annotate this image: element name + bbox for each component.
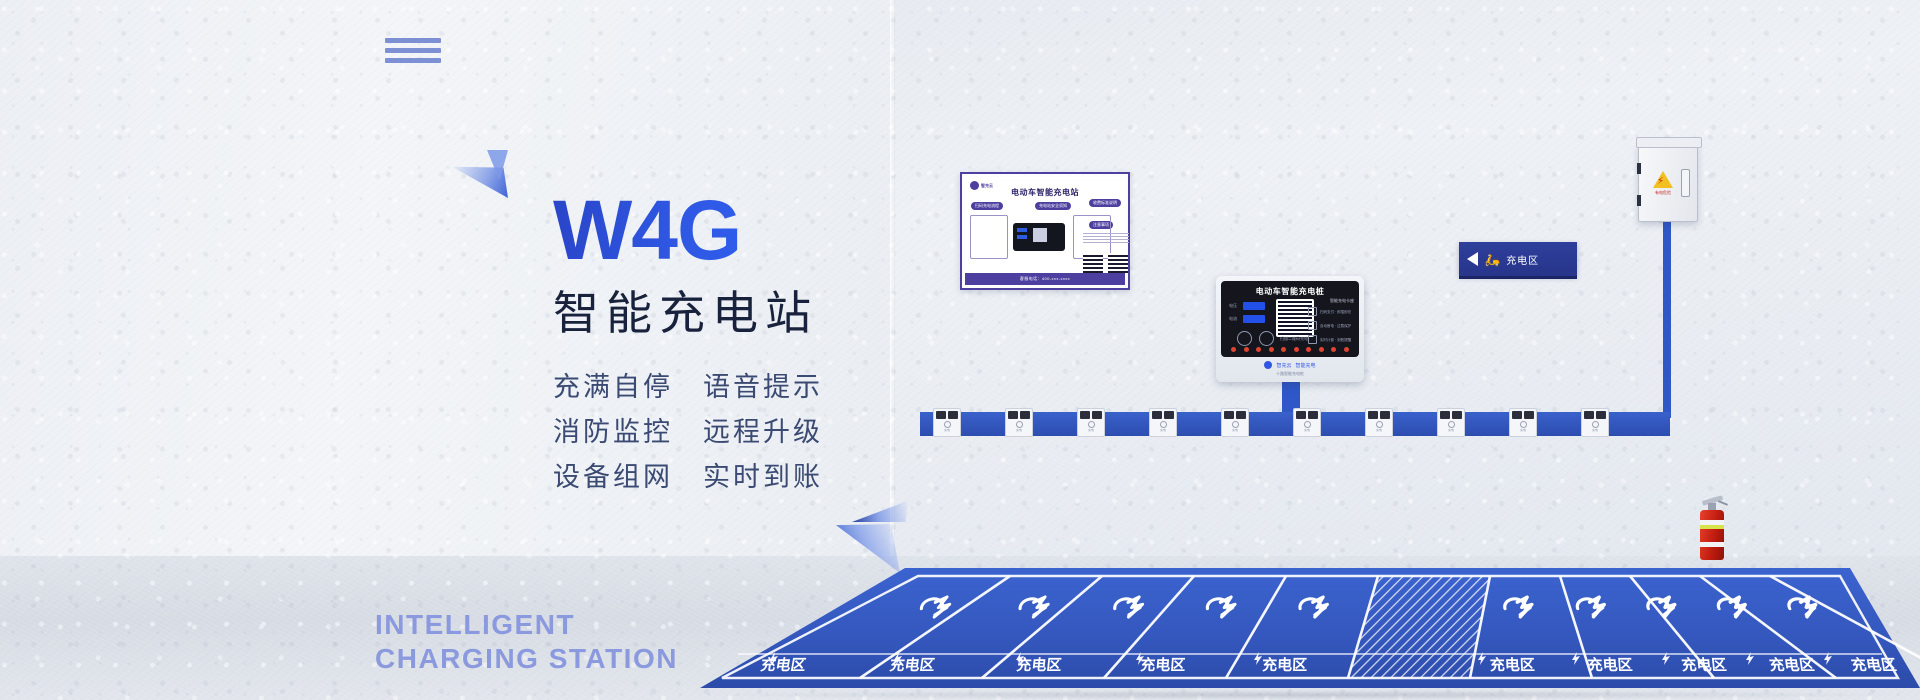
banner-root: W4G 智能充电站 充满自停 语音提示 消防监控 远程升级 设备组网 实时到账 … (0, 0, 1920, 700)
poster-title: 电动车智能充电站 (965, 187, 1125, 198)
socket-label: 充电 (1438, 428, 1464, 432)
port-indicator (1256, 347, 1261, 352)
socket-holes (1150, 409, 1176, 419)
feature-list: 充满自停 语音提示 消防监控 远程升级 设备组网 实时到账 (553, 365, 823, 494)
fire-extinguisher (1700, 498, 1724, 560)
socket-holes (1438, 409, 1464, 419)
charging-pile-info-row: 自动断电 · 过载保护 (1308, 321, 1354, 330)
poster-device-qr (1033, 228, 1047, 242)
extinguisher-band-yellow (1700, 525, 1724, 529)
wall-socket[interactable]: 充电 (1509, 408, 1537, 437)
socket-label: 充电 (1078, 428, 1104, 432)
port-indicator (1244, 347, 1249, 352)
charging-pile-knob-2[interactable] (1259, 331, 1274, 346)
port-indicator (1269, 347, 1274, 352)
extinguisher-band (1700, 520, 1724, 525)
port-indicator (1306, 347, 1311, 352)
charging-pile-info-row: 扫码支付 · 即插即充 (1308, 307, 1354, 316)
hamburger-line-3 (385, 58, 441, 63)
charging-pile-info-heading: 智能充电卡座 (1308, 298, 1354, 304)
socket-pin (1160, 421, 1167, 428)
cabinet-conduit (1663, 220, 1671, 418)
charging-pile-info-icon (1308, 335, 1317, 344)
wall-socket[interactable]: 充电 (1149, 408, 1177, 437)
charging-pile-knob-1[interactable] (1237, 331, 1252, 346)
feature-item: 语音提示 (703, 365, 823, 404)
cabinet-warning-text: 有电危险 (1647, 190, 1679, 196)
cabinet-handle[interactable] (1681, 169, 1690, 197)
hamburger-line-1 (385, 38, 441, 43)
bay-label: 充电区 (1140, 656, 1186, 674)
socket-pin (1592, 421, 1599, 428)
socket-label: 充电 (1222, 428, 1248, 432)
charging-pile-info-text: 扫码支付 · 即插即充 (1320, 310, 1351, 314)
tagline-line-2: CHARGING STATION (375, 642, 678, 676)
brand-logo-icon (1264, 361, 1272, 369)
socket-pin (1304, 421, 1311, 428)
poster-footer: 客服电话：400-xxx-xxxx (965, 273, 1125, 285)
charging-pile-caption: 十路智能充电桩 (1221, 371, 1359, 377)
parking-lot: 充电区 充电区 充电区 充电区 充电区 充电区 充电区 充电区 充电区 充电区 (690, 556, 1920, 700)
poster-text-lines (1083, 233, 1129, 245)
poster-flow-box-left (970, 215, 1008, 259)
socket-holes (1510, 409, 1536, 419)
socket-pin (1520, 421, 1527, 428)
socket-label: 充电 (1006, 428, 1032, 432)
charging-pile-brand: 智充云 智能充电 (1221, 361, 1359, 369)
socket-label: 充电 (1510, 428, 1536, 432)
charging-pile-info-text: 自动断电 · 过载保护 (1320, 324, 1351, 328)
socket-pin (1016, 421, 1023, 428)
poster-text-line (1083, 242, 1129, 243)
high-voltage-icon: ⚡ (1657, 177, 1664, 187)
charging-pile-display-label-1: 电压 (1229, 302, 1237, 310)
bay-label: 充电区 (1768, 656, 1815, 674)
hamburger-line-2 (385, 48, 441, 53)
wall-poster-inner: 智充云 电动车智能充电站 扫码充电流程 充电站安全须知 收费标准说明 注意事项 (965, 177, 1125, 285)
electrical-distribution-box: ⚡ 有电危险 (1638, 144, 1698, 222)
cabinet-hinge (1637, 195, 1641, 206)
cabinet-hinge (1637, 163, 1641, 174)
wall-socket[interactable]: 充电 (1293, 408, 1321, 437)
arrow-left-icon (1467, 252, 1478, 266)
wall-socket[interactable]: 充电 (1005, 408, 1033, 437)
bay-label: 充电区 (1681, 656, 1728, 674)
port-indicator (1294, 347, 1299, 352)
feature-item: 充满自停 (553, 365, 673, 404)
charging-pile-brand-text: 智充云 (1276, 362, 1291, 369)
poster-device-led-1 (1017, 228, 1027, 232)
charging-pile-led-display-2 (1243, 315, 1265, 323)
socket-label: 充电 (934, 428, 960, 432)
direction-sign: 🛵 充电区 (1459, 242, 1577, 276)
direction-sign-label: 充电区 (1506, 252, 1539, 267)
bay-label: 充电区 (1850, 656, 1898, 674)
charging-pile-title: 电动车智能充电桩 (1221, 286, 1359, 297)
charging-pile[interactable]: 电动车智能充电桩 电压 电流 扫描二维码充电 智能充电卡座 扫码支付 · 即插即… (1216, 276, 1364, 382)
poster-section-3: 收费标准说明 (1089, 199, 1121, 207)
wall-socket[interactable]: 充电 (1581, 408, 1609, 437)
bay-label: 充电区 (1016, 656, 1063, 674)
direction-sign-base (1459, 276, 1577, 279)
charging-pile-brand-sub: 智能充电 (1296, 362, 1316, 369)
socket-holes (934, 409, 960, 419)
wall-socket[interactable]: 充电 (1077, 408, 1105, 437)
poster-qr-wechat (1083, 253, 1103, 273)
bay-label: 充电区 (1489, 656, 1535, 674)
bay-label: 充电区 (759, 656, 807, 674)
lot-slab (700, 568, 1920, 688)
poster-section-2: 充电站安全须知 (1035, 202, 1071, 210)
port-indicator (1231, 347, 1236, 352)
feature-item: 消防监控 (553, 410, 673, 449)
charging-pile-info-icon (1308, 321, 1317, 330)
port-indicator (1319, 347, 1324, 352)
port-indicator (1331, 347, 1336, 352)
lot-ground-shadow (700, 690, 1910, 700)
port-indicator (1281, 347, 1286, 352)
extinguisher-band (1700, 542, 1724, 547)
socket-holes (1006, 409, 1032, 419)
bay-label: 充电区 (1262, 656, 1308, 674)
socket-label: 充电 (1150, 428, 1176, 432)
extinguisher-body (1700, 510, 1724, 560)
socket-holes (1294, 409, 1320, 419)
poster-section-1: 扫码充电流程 (971, 202, 1003, 210)
socket-pin (1088, 421, 1095, 428)
page-title: W4G (553, 190, 818, 271)
socket-label: 充电 (1294, 428, 1320, 432)
charging-pile-info-row: 实时计费 · 到账提醒 (1308, 335, 1354, 344)
wall-socket[interactable]: 充电 (1365, 408, 1393, 437)
feature-item: 远程升级 (703, 410, 823, 449)
charging-pile-display-label-2: 电流 (1229, 315, 1237, 323)
socket-label: 充电 (1582, 428, 1608, 432)
socket-holes (1582, 409, 1608, 419)
port-indicator (1344, 347, 1349, 352)
charging-pile-info-panel: 智能充电卡座 扫码支付 · 即插即充 自动断电 · 过载保护 实时计费 · 到账… (1308, 298, 1354, 349)
hamburger-menu-icon[interactable] (385, 38, 441, 63)
poster-qr-alipay (1108, 253, 1128, 273)
poster-device-illustration (1013, 223, 1065, 251)
socket-label: 充电 (1366, 428, 1392, 432)
charging-pile-info-icon (1308, 307, 1317, 316)
tagline: INTELLIGENT CHARGING STATION (375, 608, 678, 676)
wall-socket[interactable]: 充电 (933, 408, 961, 437)
wall-poster: 智充云 电动车智能充电站 扫码充电流程 充电站安全须知 收费标准说明 注意事项 (960, 172, 1130, 290)
socket-holes (1222, 409, 1248, 419)
poster-device-led-2 (1017, 235, 1027, 239)
parking-lot-svg: 充电区 充电区 充电区 充电区 充电区 充电区 充电区 充电区 充电区 充电区 (690, 556, 1920, 700)
charging-pile-port-indicators (1231, 347, 1349, 352)
socket-pin (944, 421, 951, 428)
feature-item: 实时到账 (703, 455, 823, 494)
page-subtitle: 智能充电站 (553, 277, 818, 343)
cabinet-top-cap (1636, 137, 1702, 148)
socket-pin (1232, 421, 1239, 428)
poster-text-line (1083, 233, 1129, 234)
poster-text-line (1083, 239, 1129, 240)
charging-pile-led-display-1 (1243, 302, 1265, 310)
socket-holes (1078, 409, 1104, 419)
headline-block: W4G 智能充电站 (553, 190, 818, 343)
bay-label: 充电区 (1587, 656, 1633, 674)
socket-holes (1366, 409, 1392, 419)
wall-corner-edge (890, 0, 895, 560)
charging-pile-panel: 电动车智能充电桩 电压 电流 扫描二维码充电 智能充电卡座 扫码支付 · 即插即… (1221, 281, 1359, 357)
tagline-line-1: INTELLIGENT (375, 608, 678, 642)
socket-pin (1376, 421, 1383, 428)
feature-item: 设备组网 (553, 455, 673, 494)
wall-socket[interactable]: 充电 (1221, 408, 1249, 437)
e-bike-icon: 🛵 (1484, 253, 1500, 266)
wall-socket[interactable]: 充电 (1437, 408, 1465, 437)
socket-pin (1448, 421, 1455, 428)
charging-pile-info-text: 实时计费 · 到账提醒 (1320, 338, 1351, 342)
poster-text-line (1083, 236, 1129, 237)
